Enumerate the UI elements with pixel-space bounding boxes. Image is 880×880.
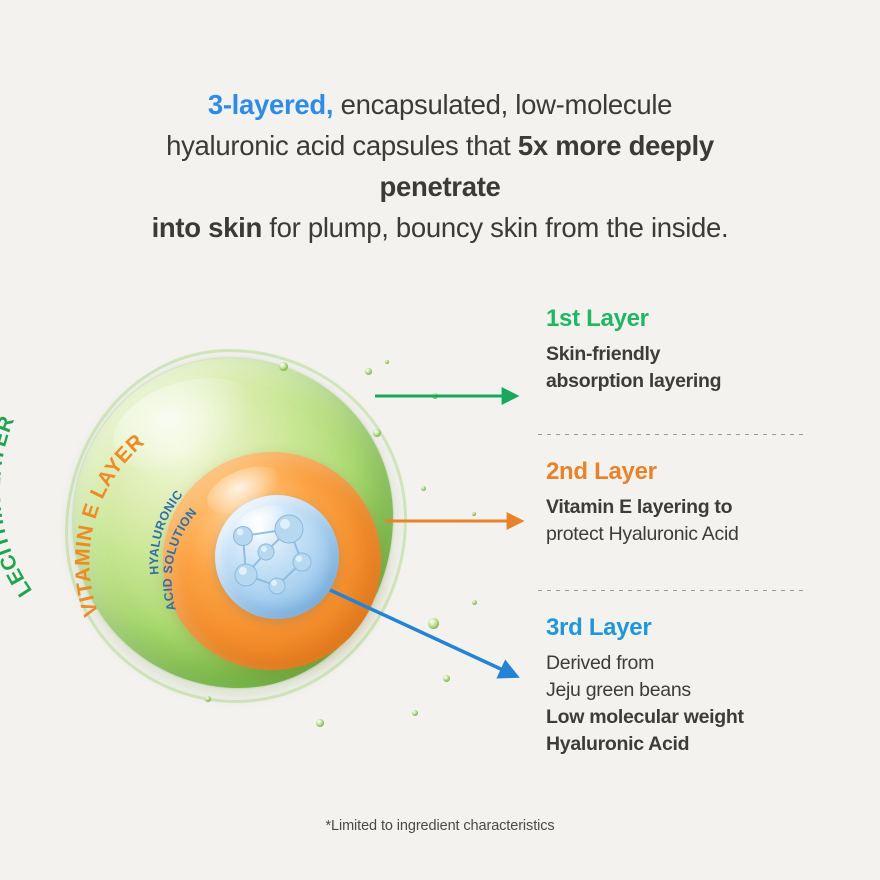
infographic-canvas: 3-layered, encapsulated, low-molecule hy…	[0, 0, 880, 880]
layer-2-body-line-2: protect Hyaluronic Acid	[546, 521, 846, 548]
molecule-structure-icon: LECITHIN LAYER VITAMIN E LAYER HYALURONI…	[55, 330, 485, 760]
headline-line-4-normal: for plump, bouncy skin from the inside.	[262, 212, 728, 243]
headline-line-3: penetrate	[0, 166, 880, 207]
divider-1	[538, 434, 806, 435]
label-lecithin-layer: LECITHIN LAYER	[0, 413, 37, 601]
headline-line-2-bold: 5x more deeply	[518, 130, 714, 161]
headline: 3-layered, encapsulated, low-molecule hy…	[0, 84, 880, 248]
headline-highlight: 3-layered,	[208, 89, 333, 120]
layer-3-body: Derived from Jeju green beans Low molecu…	[546, 650, 856, 758]
layer-3-title: 3rd Layer	[546, 615, 856, 641]
layer-block-2: 2nd Layer Vitamin E layering to protect …	[546, 459, 846, 548]
footnote: *Limited to ingredient characteristics	[0, 818, 880, 834]
layer-block-1: 1st Layer Skin-friendly absorption layer…	[546, 306, 846, 395]
layer-1-body: Skin-friendly absorption layering	[546, 341, 846, 395]
headline-line-1: 3-layered, encapsulated, low-molecule	[0, 84, 880, 125]
headline-line-2-normal: hyaluronic acid capsules that	[166, 130, 518, 161]
capsule-diagram: LECITHIN LAYER VITAMIN E LAYER HYALURONI…	[55, 330, 485, 760]
headline-line-1-rest: encapsulated, low-molecule	[333, 89, 672, 120]
layer-2-title: 2nd Layer	[546, 459, 846, 485]
layer-3-body-line-2: Jeju green beans	[546, 677, 856, 704]
label-vitamin-e-layer: VITAMIN E LAYER	[71, 430, 149, 620]
headline-line-3-bold: penetrate	[379, 171, 500, 202]
headline-line-2: hyaluronic acid capsules that 5x more de…	[0, 125, 880, 166]
layer-2-body-line-1: Vitamin E layering to	[546, 494, 846, 521]
headline-line-4-bold: into skin	[152, 212, 262, 243]
layer-1-body-line-2: absorption layering	[546, 368, 846, 395]
layer-1-body-line-1: Skin-friendly	[546, 341, 846, 368]
layer-3-body-line-4: Hyaluronic Acid	[546, 731, 856, 758]
layer-2-body: Vitamin E layering to protect Hyaluronic…	[546, 494, 846, 548]
layer-block-3: 3rd Layer Derived from Jeju green beans …	[546, 615, 856, 758]
layer-3-body-line-3: Low molecular weight	[546, 704, 856, 731]
divider-2	[538, 590, 806, 591]
headline-line-4: into skin for plump, bouncy skin from th…	[0, 207, 880, 248]
layer-3-body-line-1: Derived from	[546, 650, 856, 677]
layer-1-title: 1st Layer	[546, 306, 846, 332]
